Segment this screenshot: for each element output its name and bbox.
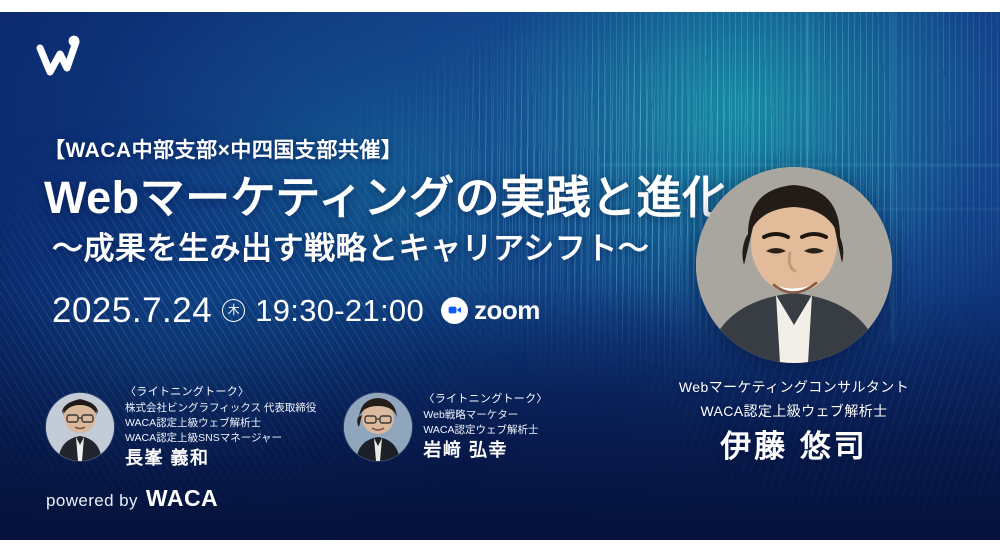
video-camera-icon [441, 297, 468, 324]
speaker-role-1: 株式会社ビングラフィックス 代表取締役 [125, 401, 316, 416]
speaker-photo-nagamine [46, 393, 114, 461]
powered-by-label: powered by [46, 491, 138, 511]
zoom-logo: zoom [441, 297, 540, 324]
speaker-photo-iwasaki [344, 393, 412, 461]
waca-wordmark: WACA [146, 485, 218, 512]
main-speaker-role-1: Webマーケティングコンサルタント [644, 377, 944, 399]
speaker-info: 〈ライトニングトーク〉 株式会社ビングラフィックス 代表取締役 WACA認定上級… [125, 385, 316, 468]
event-kicker: 【WACA中部支部×中四国支部共催】 [44, 138, 684, 163]
powered-by-block: powered by WACA [46, 485, 218, 512]
page-title: Webマーケティングの実践と進化 [44, 173, 684, 223]
event-time: 19:30-21:00 [255, 295, 424, 326]
speaker-role-2: WACA認定上級ウェブ解析士 [125, 416, 316, 431]
speaker-role-3: WACA認定上級SNSマネージャー [125, 431, 316, 446]
list-item: 〈ライトニングトーク〉 株式会社ビングラフィックス 代表取締役 WACA認定上級… [46, 385, 316, 468]
speaker-role-2: WACA認定ウェブ解析士 [423, 423, 547, 438]
event-banner: 【WACA中部支部×中四国支部共催】 Webマーケティングの実践と進化 〜成果を… [0, 12, 1000, 540]
zoom-wordmark: zoom [474, 297, 540, 323]
waca-w-mark-icon [30, 28, 92, 86]
main-speaker-block: Webマーケティングコンサルタント WACA認定上級ウェブ解析士 伊藤 悠司 [644, 167, 944, 464]
event-day-of-week: 木 [222, 299, 245, 322]
main-speaker-role-2: WACA認定上級ウェブ解析士 [644, 401, 944, 423]
speaker-name: 岩﨑 弘幸 [423, 441, 547, 461]
main-speaker-photo-ito [696, 167, 892, 363]
banner-stage: 【WACA中部支部×中四国支部共催】 Webマーケティングの実践と進化 〜成果を… [0, 0, 1000, 559]
main-speaker-name: 伊藤 悠司 [644, 430, 944, 464]
speaker-role-1: Web戦略マーケター [423, 408, 547, 423]
speaker-tag: 〈ライトニングトーク〉 [423, 392, 547, 407]
speaker-name: 長峯 義和 [125, 449, 316, 469]
speaker-info: 〈ライトニングトーク〉 Web戦略マーケター WACA認定ウェブ解析士 岩﨑 弘… [423, 392, 547, 460]
list-item: 〈ライトニングトーク〉 Web戦略マーケター WACA認定ウェブ解析士 岩﨑 弘… [344, 385, 547, 468]
event-date: 2025.7.24 [52, 293, 212, 328]
page-subtitle: 〜成果を生み出す戦略とキャリアシフト〜 [52, 230, 684, 267]
lightning-talk-speakers: 〈ライトニングトーク〉 株式会社ビングラフィックス 代表取締役 WACA認定上級… [46, 385, 548, 468]
event-datetime: 2025.7.24 木 19:30-21:00 zoom [52, 293, 684, 328]
speaker-tag: 〈ライトニングトーク〉 [125, 385, 316, 400]
headline-block: 【WACA中部支部×中四国支部共催】 Webマーケティングの実践と進化 〜成果を… [44, 138, 684, 328]
